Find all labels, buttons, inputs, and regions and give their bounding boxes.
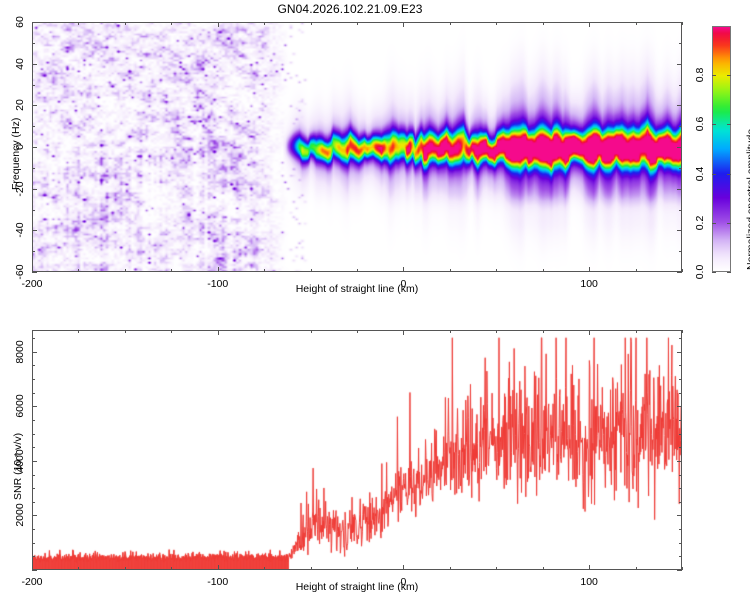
xtick-minor-top bbox=[636, 330, 637, 333]
xtick-minor-top bbox=[264, 330, 265, 333]
colorbar-tick-label: 0.8 bbox=[694, 68, 706, 83]
ytick-minor bbox=[32, 529, 35, 530]
ytick-minor bbox=[32, 434, 35, 435]
xtick-major bbox=[589, 267, 590, 272]
spectrogram-xlabel: Height of straight line (km) bbox=[296, 283, 419, 295]
xtick-minor bbox=[171, 269, 172, 272]
xtick-major bbox=[589, 565, 590, 570]
xtick-minor-top bbox=[311, 330, 312, 333]
xtick-minor bbox=[357, 269, 358, 272]
ytick-minor bbox=[32, 420, 35, 421]
snr-xlabel: Height of straight line (km) bbox=[296, 581, 419, 593]
ytick-minor bbox=[32, 210, 35, 211]
xtick-minor-top bbox=[636, 22, 637, 25]
ytick-major bbox=[32, 461, 37, 462]
ytick-major bbox=[32, 570, 37, 571]
colorbar-tick-label: 0.2 bbox=[694, 215, 706, 230]
ytick-major bbox=[32, 515, 37, 516]
xtick-major-top bbox=[589, 330, 590, 335]
ytick-major-right bbox=[677, 406, 682, 407]
xtick-minor bbox=[496, 269, 497, 272]
spectrogram-canvas bbox=[33, 23, 681, 271]
xtick-major-top bbox=[403, 330, 404, 335]
xtick-minor bbox=[450, 567, 451, 570]
ytick-minor bbox=[32, 393, 35, 394]
xtick-minor-top bbox=[264, 22, 265, 25]
ytick-label: 6000 bbox=[14, 395, 26, 418]
xtick-minor-top bbox=[682, 330, 683, 333]
xtick-major-top bbox=[218, 330, 219, 335]
xtick-label: -200 bbox=[21, 576, 42, 588]
xtick-label: 100 bbox=[580, 278, 598, 290]
snr-canvas bbox=[33, 331, 681, 569]
ytick-minor bbox=[32, 556, 35, 557]
xtick-minor-top bbox=[450, 330, 451, 333]
colorbar-tick bbox=[712, 272, 716, 273]
xtick-major bbox=[403, 267, 404, 272]
colorbar bbox=[712, 26, 731, 272]
xtick-minor bbox=[171, 567, 172, 570]
xtick-minor bbox=[682, 567, 683, 570]
ytick-label: 60 bbox=[14, 16, 26, 28]
ytick-minor bbox=[32, 475, 35, 476]
colorbar-tick bbox=[712, 124, 716, 125]
colorbar-tick-right bbox=[727, 174, 731, 175]
ytick-major bbox=[32, 272, 37, 273]
xtick-minor-top bbox=[496, 22, 497, 25]
figure-root: GN04.2026.102.21.09.E23 -200-1000100-60-… bbox=[0, 0, 750, 600]
xtick-minor bbox=[264, 269, 265, 272]
ytick-major bbox=[32, 105, 37, 106]
ytick-minor bbox=[32, 43, 35, 44]
xtick-minor bbox=[311, 567, 312, 570]
xtick-minor-top bbox=[78, 22, 79, 25]
ytick-major bbox=[32, 230, 37, 231]
colorbar-tick-right bbox=[727, 124, 731, 125]
ytick-minor-right bbox=[679, 420, 682, 421]
ytick-major bbox=[32, 189, 37, 190]
ytick-minor-right bbox=[679, 434, 682, 435]
colorbar-tick-label: 0.6 bbox=[694, 117, 706, 132]
ytick-minor bbox=[32, 543, 35, 544]
colorbar-tick-right bbox=[727, 272, 731, 273]
xtick-minor bbox=[543, 567, 544, 570]
xtick-minor bbox=[125, 269, 126, 272]
ytick-minor-right bbox=[679, 338, 682, 339]
xtick-minor-top bbox=[125, 22, 126, 25]
colorbar-tick-label: 0.0 bbox=[694, 265, 706, 280]
ytick-minor-right bbox=[679, 251, 682, 252]
ytick-minor bbox=[32, 168, 35, 169]
ytick-minor bbox=[32, 447, 35, 448]
ytick-minor-right bbox=[679, 556, 682, 557]
xtick-minor-top bbox=[171, 22, 172, 25]
ytick-major-right bbox=[677, 147, 682, 148]
xtick-minor-top bbox=[543, 330, 544, 333]
ytick-minor-right bbox=[679, 488, 682, 489]
ytick-label: 40 bbox=[14, 58, 26, 70]
xtick-minor-top bbox=[357, 330, 358, 333]
spectrogram-ylabel: Frequency (Hz) bbox=[10, 118, 22, 190]
colorbar-tick bbox=[712, 75, 716, 76]
ytick-minor bbox=[32, 488, 35, 489]
ytick-major-right bbox=[677, 105, 682, 106]
xtick-minor bbox=[125, 567, 126, 570]
ytick-minor-right bbox=[679, 85, 682, 86]
spectrogram-panel bbox=[32, 22, 682, 272]
colorbar-tick bbox=[712, 223, 716, 224]
ytick-label: 8000 bbox=[14, 340, 26, 363]
xtick-minor bbox=[543, 269, 544, 272]
xtick-minor-top bbox=[450, 22, 451, 25]
ytick-major-right bbox=[677, 570, 682, 571]
xtick-label: -100 bbox=[207, 278, 228, 290]
xtick-minor bbox=[496, 567, 497, 570]
ytick-label: 2000 bbox=[14, 504, 26, 527]
ytick-major-right bbox=[677, 64, 682, 65]
ytick-minor-right bbox=[679, 168, 682, 169]
ytick-major bbox=[32, 406, 37, 407]
ytick-label: -40 bbox=[14, 223, 26, 238]
ytick-major bbox=[32, 352, 37, 353]
ytick-major-right bbox=[677, 189, 682, 190]
xtick-minor bbox=[264, 567, 265, 570]
snr-panel bbox=[32, 330, 682, 570]
xtick-label: -100 bbox=[207, 576, 228, 588]
ytick-minor bbox=[32, 126, 35, 127]
ytick-minor bbox=[32, 365, 35, 366]
ytick-major-right bbox=[677, 352, 682, 353]
ytick-major-right bbox=[677, 22, 682, 23]
ytick-major bbox=[32, 147, 37, 148]
ytick-minor-right bbox=[679, 393, 682, 394]
xtick-minor bbox=[450, 269, 451, 272]
ytick-label: -60 bbox=[14, 264, 26, 279]
ytick-minor-right bbox=[679, 475, 682, 476]
colorbar-tick-label: 0.4 bbox=[694, 166, 706, 181]
xtick-minor-top bbox=[357, 22, 358, 25]
ytick-minor bbox=[32, 379, 35, 380]
ytick-minor bbox=[32, 251, 35, 252]
xtick-major bbox=[218, 267, 219, 272]
xtick-major-top bbox=[403, 22, 404, 27]
xtick-minor bbox=[311, 269, 312, 272]
ytick-major bbox=[32, 64, 37, 65]
xtick-minor-top bbox=[78, 330, 79, 333]
ytick-label: 20 bbox=[14, 99, 26, 111]
xtick-major bbox=[403, 565, 404, 570]
colorbar-tick-right bbox=[727, 75, 731, 76]
ytick-minor-right bbox=[679, 502, 682, 503]
figure-title: GN04.2026.102.21.09.E23 bbox=[0, 2, 700, 16]
ytick-minor-right bbox=[679, 210, 682, 211]
xtick-label: -200 bbox=[21, 278, 42, 290]
ytick-major bbox=[32, 22, 37, 23]
snr-ylabel: SNR (10 * v/v) bbox=[12, 433, 24, 500]
ytick-major-right bbox=[677, 461, 682, 462]
ytick-major-right bbox=[677, 230, 682, 231]
xtick-major-top bbox=[589, 22, 590, 27]
ytick-minor bbox=[32, 85, 35, 86]
xtick-minor bbox=[636, 567, 637, 570]
xtick-major-top bbox=[32, 330, 33, 335]
colorbar-tick bbox=[712, 174, 716, 175]
xtick-minor-top bbox=[125, 330, 126, 333]
ytick-minor-right bbox=[679, 126, 682, 127]
colorbar-label: Normalized spectral amplitude bbox=[745, 129, 750, 270]
ytick-minor-right bbox=[679, 43, 682, 44]
xtick-minor bbox=[357, 567, 358, 570]
xtick-minor-top bbox=[682, 22, 683, 25]
xtick-minor bbox=[636, 269, 637, 272]
ytick-minor-right bbox=[679, 529, 682, 530]
xtick-major bbox=[218, 565, 219, 570]
xtick-minor-top bbox=[496, 330, 497, 333]
ytick-minor-right bbox=[679, 447, 682, 448]
ytick-minor bbox=[32, 338, 35, 339]
xtick-label: 100 bbox=[580, 576, 598, 588]
ytick-major-right bbox=[677, 515, 682, 516]
xtick-minor bbox=[78, 269, 79, 272]
xtick-minor-top bbox=[171, 330, 172, 333]
ytick-minor-right bbox=[679, 365, 682, 366]
ytick-minor bbox=[32, 502, 35, 503]
ytick-major-right bbox=[677, 272, 682, 273]
xtick-minor-top bbox=[543, 22, 544, 25]
ytick-minor-right bbox=[679, 543, 682, 544]
colorbar-gradient bbox=[713, 27, 730, 271]
xtick-minor-top bbox=[311, 22, 312, 25]
xtick-minor bbox=[682, 269, 683, 272]
xtick-major-top bbox=[218, 22, 219, 27]
colorbar-tick-right bbox=[727, 223, 731, 224]
ytick-minor-right bbox=[679, 379, 682, 380]
xtick-minor bbox=[78, 567, 79, 570]
